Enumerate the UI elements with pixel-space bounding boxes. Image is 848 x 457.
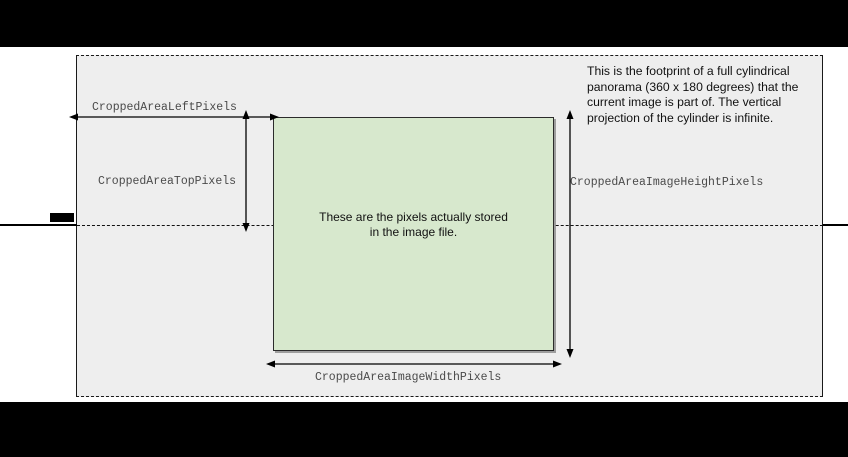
- panorama-footprint-note: This is the footprint of a full cylindri…: [587, 64, 837, 126]
- diagram-canvas: These are the pixels actually stored in …: [0, 0, 848, 457]
- label-cropped-area-top-pixels: CroppedAreaTopPixels: [98, 175, 236, 188]
- stored-pixels-caption: These are the pixels actually stored in …: [274, 210, 553, 240]
- label-cropped-area-image-width-pixels: CroppedAreaImageWidthPixels: [315, 371, 501, 384]
- horizon-line-left-segment: [0, 224, 77, 226]
- horizon-marker-block: [50, 213, 74, 222]
- label-cropped-area-image-height-pixels: CroppedAreaImageHeightPixels: [570, 176, 763, 189]
- horizon-line-right-segment: [823, 224, 848, 226]
- label-cropped-area-left-pixels: CroppedAreaLeftPixels: [92, 101, 237, 114]
- stored-pixels-rectangle: These are the pixels actually stored in …: [273, 117, 554, 351]
